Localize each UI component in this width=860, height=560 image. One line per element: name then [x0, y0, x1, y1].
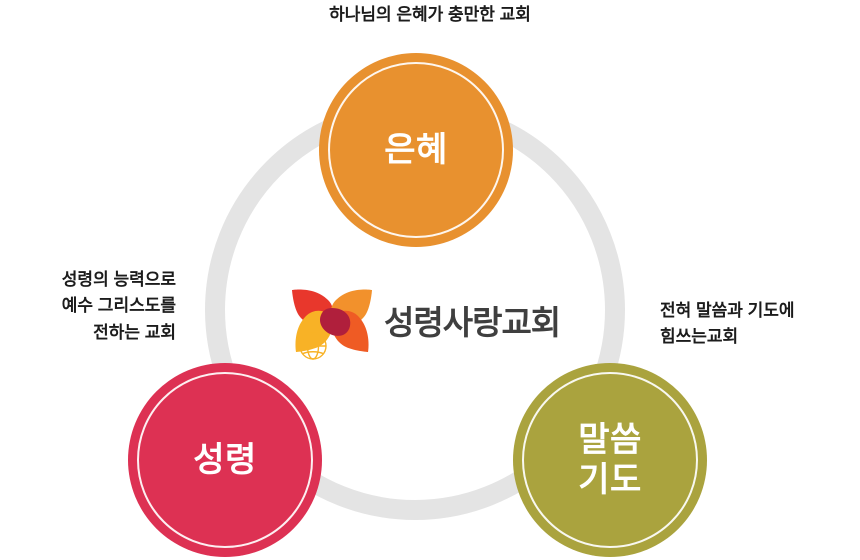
caption-right: 전혀 말씀과 기도에 힘쓰는교회 [660, 298, 856, 351]
caption-left: 성령의 능력으로 예수 그리스도를 전하는 교회 [6, 267, 176, 346]
node-grace[interactable]: 은혜 [319, 53, 513, 247]
diagram-canvas: 하나님의 은혜가 충만한 교회 성령의 능력으로 예수 그리스도를 전하는 교회… [0, 0, 860, 560]
caption-top: 하나님의 은혜가 충만한 교회 [0, 2, 860, 28]
pinwheel-globe-logo-mark [288, 280, 376, 360]
node-word-label: 말씀 기도 [578, 420, 642, 500]
logo-text: 성령사랑교회 [384, 296, 560, 344]
node-grace-label: 은혜 [384, 130, 448, 170]
church-logo: 성령사랑교회 [288, 280, 578, 360]
node-word[interactable]: 말씀 기도 [513, 363, 707, 557]
node-spirit[interactable]: 성령 [128, 363, 322, 557]
node-spirit-label: 성령 [193, 440, 257, 480]
